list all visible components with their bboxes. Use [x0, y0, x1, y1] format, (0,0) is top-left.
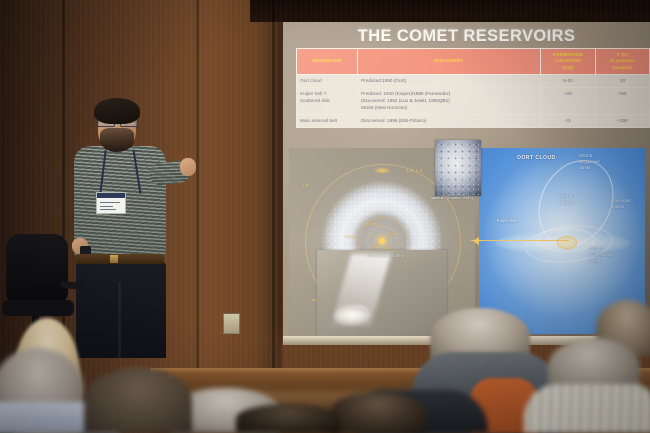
comet-reservoirs-table: RESERVOIR DISCOVERY FORMATION LOCATION (…	[296, 48, 650, 128]
fl-line-3: (AU)	[563, 65, 574, 70]
screenshot-root: THE COMET RESERVOIRS RESERVOIR DISCOVERY…	[0, 0, 650, 433]
cell-discovery: Predicted:1950 (Oort)	[358, 75, 541, 88]
table-row: Kuiper belt ? Scattered disk Predicted: …	[297, 87, 650, 114]
cell-formation-location: >20	[541, 87, 596, 114]
label-kuiper-belt: Kuiper belt	[497, 218, 517, 224]
label-venus: Venus	[345, 235, 356, 239]
speaker-belt	[76, 254, 164, 264]
speaker	[58, 96, 188, 358]
kuiper-arrow-icon	[473, 237, 479, 245]
label-l3: L3, 2:3	[407, 168, 422, 173]
cell-reservoir: Kuiper belt ? Scattered disk	[297, 87, 358, 114]
speaker-legs	[76, 262, 166, 358]
cell-temperature: <50	[596, 87, 650, 114]
label-iss-2: system	[611, 204, 624, 210]
fl-line-2: LOCATION	[555, 58, 581, 63]
wall-seam	[272, 0, 275, 390]
col-header-temperature: T (K) in present location	[596, 49, 650, 75]
col-header-discovery: DISCOVERY	[358, 49, 541, 75]
label-sp-3: comet	[589, 258, 600, 264]
slide-title: THE COMET RESERVOIRS	[283, 27, 650, 46]
audience-body	[524, 384, 650, 433]
ceiling	[250, 0, 650, 22]
table-row: Main asteroid belt Discovered: 1996 (Els…	[297, 114, 650, 127]
conference-badge	[96, 192, 126, 214]
wall-socket	[223, 313, 240, 334]
office-chair-seat	[2, 300, 74, 316]
inset-comet-caption: 67P (Rosetta/OSIRIS)	[367, 254, 404, 258]
inset-iapetus-caption: Iapetus? (Cassini /VIMS)	[431, 196, 473, 200]
label-l5: L5	[303, 182, 309, 187]
kuiper-belt-pointer-line	[479, 240, 569, 241]
discovery-line-2: Discovered: 1992 (Luu & Jewitt, 1992QB1)	[361, 98, 450, 103]
reservoir-line-2: Scattered disk	[300, 98, 330, 103]
cell-reservoir: Main asteroid belt	[297, 114, 358, 127]
cell-discovery: Predicted: 1940 (Kuiper)/1980 (Fernandez…	[358, 87, 541, 114]
projected-slide: THE COMET RESERVOIRS RESERVOIR DISCOVERY…	[283, 22, 650, 338]
label-mercury: Mercury	[363, 222, 377, 226]
wall-seam	[196, 0, 199, 370]
table-row: Oort cloud Predicted:1950 (Oort) 5-20 10	[297, 75, 650, 88]
label-oort-cloud: OORT CLOUD	[517, 155, 556, 163]
fl-line-1: FORMATION	[553, 52, 583, 57]
lanyard	[102, 150, 138, 194]
t-line-3: location	[613, 65, 633, 70]
audience-head	[330, 392, 426, 433]
table-head: RESERVOIR DISCOVERY FORMATION LOCATION (…	[297, 49, 650, 75]
t-line-1: T (K)	[617, 52, 629, 57]
speaker-beard	[100, 128, 134, 152]
audience-head	[84, 368, 192, 433]
belt-buckle	[110, 255, 118, 263]
reservoir-line-1: Kuiper belt ?	[300, 91, 326, 96]
t-line-2: in present	[610, 58, 634, 63]
inner-solar-system-marker	[557, 236, 577, 249]
inset-iapetus-image	[435, 140, 481, 196]
label-jupiter-top: Jupiter	[377, 169, 389, 173]
office-chair-back	[6, 234, 68, 306]
speaker-hair	[94, 98, 140, 124]
cell-temperature: <150	[596, 114, 650, 127]
cell-temperature: 10	[596, 75, 650, 88]
sun-marker	[379, 238, 385, 244]
pointer-line	[471, 240, 483, 241]
speaker-right-hand	[180, 158, 196, 176]
projection-screen: THE COMET RESERVOIRS RESERVOIR DISCOVERY…	[283, 22, 650, 338]
label-nep-2: Neptune	[559, 200, 574, 206]
audience-head	[236, 404, 340, 433]
label-sun: Sun	[373, 245, 380, 249]
surface-texture	[435, 140, 481, 196]
discovery-line-1: Predicted: 1940 (Kuiper)/1980 (Fernandez…	[361, 91, 450, 96]
table-body: Oort cloud Predicted:1950 (Oort) 5-20 10…	[297, 75, 650, 128]
cell-discovery: Discovered: 1996 (Elst-Pizarro)	[358, 114, 541, 127]
label-lp-3: comet	[579, 165, 590, 171]
label-earth: Earth	[388, 232, 398, 236]
col-header-reservoir: RESERVOIR	[297, 49, 358, 75]
cell-reservoir: Oort cloud	[297, 75, 358, 88]
cell-formation-location: <3	[541, 114, 596, 127]
cell-formation-location: 5-20	[541, 75, 596, 88]
inset-comet-67p-image: 67P (Rosetta/OSIRIS)	[317, 250, 447, 338]
table-header-row: RESERVOIR DISCOVERY FORMATION LOCATION (…	[297, 49, 650, 75]
col-header-formation-location: FORMATION LOCATION (AU)	[541, 49, 596, 75]
discovery-line-3: MU69 (New Horizons)	[361, 105, 407, 110]
